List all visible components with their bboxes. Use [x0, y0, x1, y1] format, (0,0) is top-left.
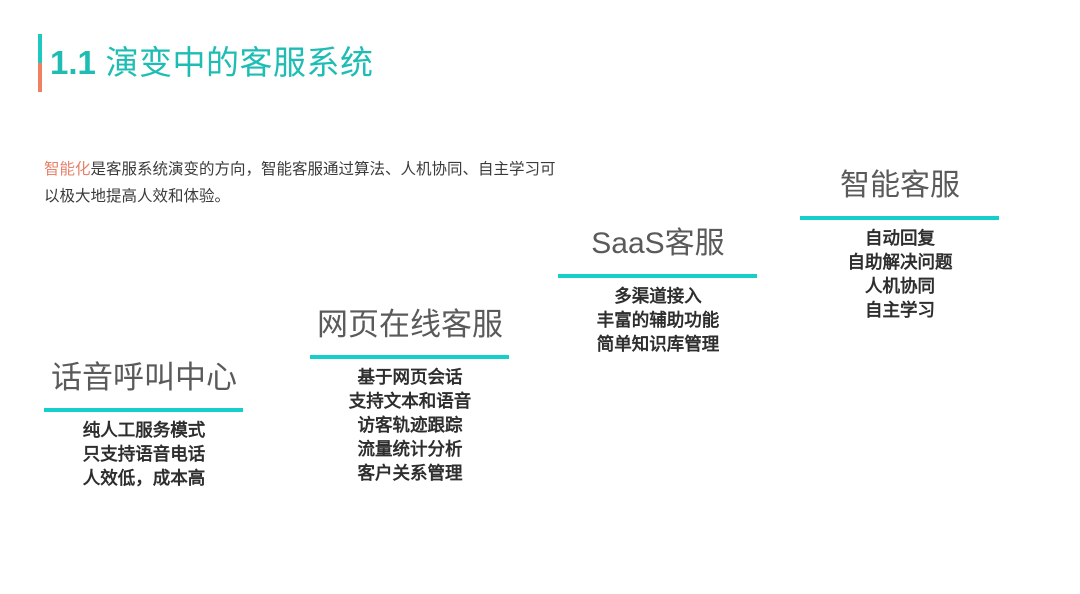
- list-item: 客户关系管理: [310, 461, 510, 485]
- slide-canvas: 1.1 演变中的客服系统 智能化是客服系统演变的方向，智能客服通过算法、人机协同…: [0, 0, 1080, 594]
- stage-item-list: 自动回复 自助解决问题 人机协同 自主学习: [800, 226, 1000, 322]
- stage-underline: [800, 216, 999, 220]
- list-item: 支持文本和语音: [310, 389, 510, 413]
- stage-item-list: 纯人工服务模式 只支持语音电话 人效低，成本高: [44, 418, 244, 490]
- stage-title: SaaS客服: [558, 224, 758, 264]
- list-item: 基于网页会话: [310, 365, 510, 389]
- stage-column-web-live-chat: 网页在线客服 基于网页会话 支持文本和语音 访客轨迹跟踪 流量统计分析 客户关系…: [310, 305, 510, 485]
- list-item: 纯人工服务模式: [44, 418, 244, 442]
- list-item: 多渠道接入: [558, 284, 758, 308]
- page-title-number: 1.1: [50, 44, 96, 81]
- list-item: 流量统计分析: [310, 437, 510, 461]
- list-item: 人机协同: [800, 274, 1000, 298]
- stage-title: 网页在线客服: [310, 305, 510, 345]
- list-item: 简单知识库管理: [558, 332, 758, 356]
- title-accent-teal-segment: [38, 34, 42, 63]
- list-item: 人效低，成本高: [44, 466, 244, 490]
- stage-underline: [44, 408, 243, 412]
- list-item: 自主学习: [800, 298, 1000, 322]
- intro-body: 是客服系统演变的方向，智能客服通过算法、人机协同、自主学习可以极大地提高人效和体…: [44, 161, 556, 205]
- stage-underline: [310, 355, 509, 359]
- stage-column-saas-service: SaaS客服 多渠道接入 丰富的辅助功能 简单知识库管理: [558, 224, 758, 356]
- stage-item-list: 多渠道接入 丰富的辅助功能 简单知识库管理: [558, 284, 758, 356]
- stage-column-intelligent-service: 智能客服 自动回复 自助解决问题 人机协同 自主学习: [800, 166, 1000, 322]
- list-item: 自动回复: [800, 226, 1000, 250]
- intro-paragraph: 智能化是客服系统演变的方向，智能客服通过算法、人机协同、自主学习可以极大地提高人…: [44, 156, 564, 210]
- intro-highlight: 智能化: [44, 161, 91, 178]
- stage-underline: [558, 274, 757, 278]
- stage-column-voice-call-center: 话音呼叫中心 纯人工服务模式 只支持语音电话 人效低，成本高: [44, 358, 244, 490]
- stage-title: 智能客服: [800, 166, 1000, 206]
- page-title-text: 演变中的客服系统: [106, 44, 374, 81]
- title-accent-orange-segment: [38, 63, 42, 92]
- list-item: 只支持语音电话: [44, 442, 244, 466]
- list-item: 访客轨迹跟踪: [310, 413, 510, 437]
- page-title: 1.1 演变中的客服系统: [50, 40, 374, 86]
- stage-item-list: 基于网页会话 支持文本和语音 访客轨迹跟踪 流量统计分析 客户关系管理: [310, 365, 510, 485]
- title-accent-bar: [38, 34, 42, 92]
- list-item: 自助解决问题: [800, 250, 1000, 274]
- list-item: 丰富的辅助功能: [558, 308, 758, 332]
- stage-title: 话音呼叫中心: [44, 358, 244, 398]
